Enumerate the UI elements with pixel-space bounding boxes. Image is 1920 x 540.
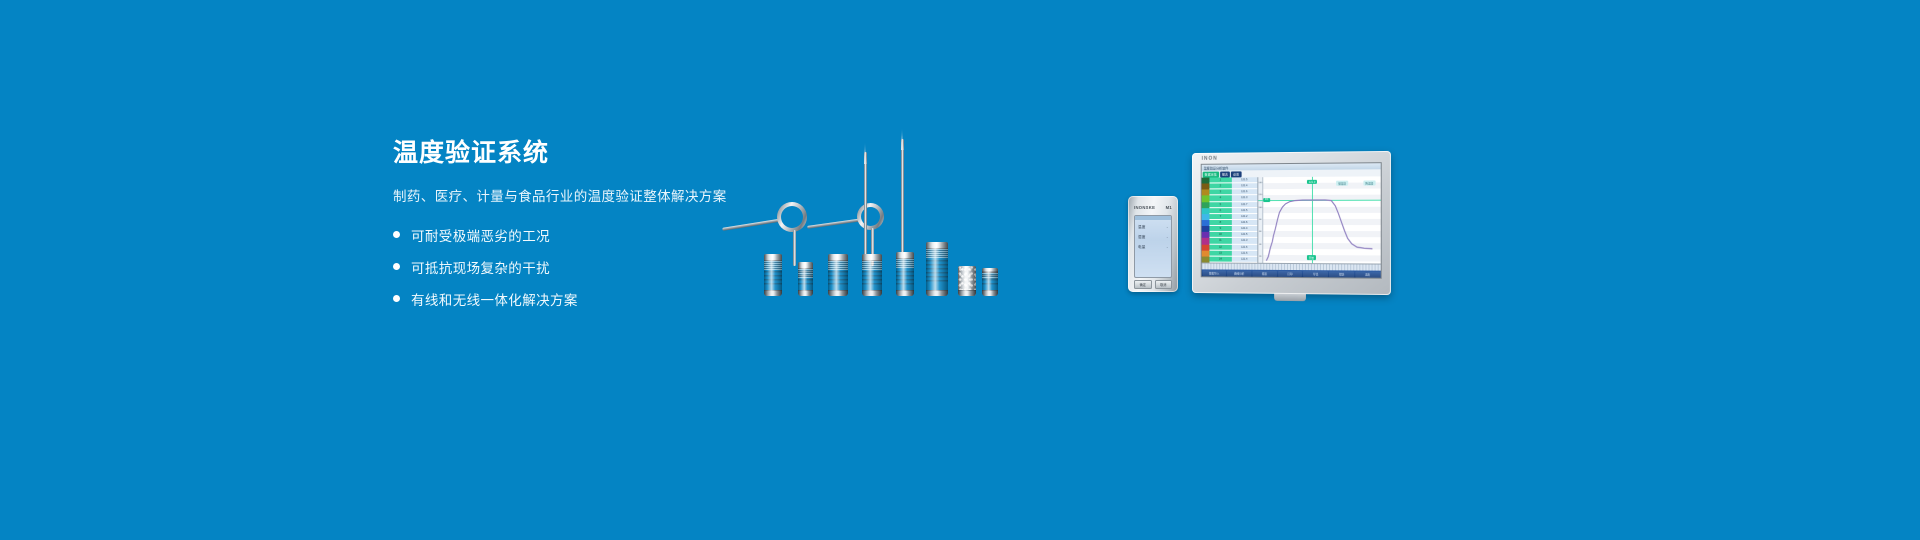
row-value: 121.6 [1231, 220, 1257, 225]
row-channel: 4 [1209, 196, 1231, 201]
logger-ribs [828, 261, 848, 270]
data-logger-mesh [958, 266, 976, 296]
handheld-row-label: 温度 [1138, 225, 1146, 230]
handheld-brand-row: INONSKE M1 [1128, 203, 1178, 211]
logger-ribs [862, 261, 882, 270]
needle-probe-taller [899, 128, 905, 254]
logger-base [764, 290, 782, 296]
needle-shaft [901, 139, 904, 254]
row-value: 121.5 [1231, 177, 1257, 182]
data-logger-3 [828, 254, 848, 296]
handheld-reader[interactable]: INONSKE M1 温度 - 湿度 - 电量 - 确定 取消 [1128, 196, 1178, 292]
bullet-dot-icon [393, 231, 400, 238]
channel-color-swatches [1202, 178, 1210, 263]
row-channel: 14 [1209, 256, 1231, 261]
logger-label [896, 271, 914, 287]
handheld-key-confirm[interactable]: 确定 [1134, 280, 1152, 289]
handheld-row-label: 电量 [1138, 245, 1146, 250]
logger-base [828, 290, 848, 296]
logger-label [926, 260, 948, 284]
handheld-row: 电量 - [1135, 245, 1171, 250]
monitor-display: INON 温度验证分析软件 数据采集 报表 设置 [1192, 151, 1391, 295]
logger-label [828, 271, 848, 287]
monitor-stand [1274, 294, 1306, 301]
monitor-brand: INON [1202, 156, 1218, 162]
logger-base [896, 290, 914, 296]
logger-ribs [896, 259, 914, 268]
logger-cap [926, 242, 948, 249]
row-value: 121.5 [1231, 208, 1257, 213]
handheld-model: M1 [1166, 205, 1172, 210]
footer-button-import[interactable]: 数据导入 [1202, 270, 1226, 276]
row-channel: 9 [1209, 226, 1231, 231]
logger-cap [764, 254, 782, 261]
chart-annotation-cool: 降温段 [1363, 181, 1375, 186]
row-value: 121.7 [1231, 202, 1257, 207]
handheld-screen: 温度 - 湿度 - 电量 - [1134, 215, 1172, 278]
temperature-curve [1266, 200, 1372, 261]
logger-ribs [926, 249, 948, 258]
row-value: 121.4 [1231, 183, 1257, 188]
row-channel: 13 [1209, 250, 1231, 255]
logger-base [926, 290, 948, 296]
data-logger-7 [982, 268, 998, 296]
footer-button-help[interactable]: 帮助 [1329, 271, 1354, 277]
footer-button-exit[interactable]: 退出 [1355, 271, 1380, 277]
handheld-key-cancel[interactable]: 取消 [1155, 280, 1173, 289]
logger-cap [798, 262, 813, 269]
handheld-row-value: - [1167, 225, 1168, 230]
app-body: 1121.5 2121.4 3121.6 4121.3 5121.7 6121.… [1202, 176, 1381, 263]
monitor-screen: 温度验证分析软件 数据采集 报表 设置 [1201, 162, 1382, 279]
logger-base [862, 290, 882, 296]
handheld-keypad[interactable]: 确定 取消 [1134, 280, 1172, 289]
probe-coil-ring [777, 202, 807, 232]
logger-cap [862, 254, 882, 261]
handheld-row-label: 湿度 [1138, 235, 1146, 240]
probe-lead [793, 230, 796, 266]
app-footer-toolbar[interactable]: 数据导入 曲线分析 报表 打印 导出 帮助 退出 [1202, 269, 1381, 277]
logger-ribs [764, 261, 782, 270]
feature-label: 可耐受极端恶劣的工况 [411, 225, 550, 245]
probe-stem [722, 218, 784, 230]
row-value: 121.5 [1231, 232, 1257, 237]
ribbon-tab-settings[interactable]: 设置 [1231, 171, 1241, 177]
row-channel: 2 [1209, 183, 1231, 188]
temperature-chart[interactable]: 140 120 100 80 60 40 20 121.0 F0 [1258, 176, 1380, 263]
logger-label [862, 271, 882, 287]
handheld-row-value: - [1167, 245, 1168, 250]
hero-banner: 温度验证系统 制药、医疗、计量与食品行业的温度验证整体解决方案 可耐受极端恶劣的… [0, 0, 1920, 540]
chart-marker-top: 121.0 [1307, 180, 1318, 184]
row-channel: 11 [1209, 238, 1231, 243]
row-channel: 6 [1209, 208, 1231, 213]
row-value: 121.6 [1231, 244, 1257, 249]
footer-button-print[interactable]: 打印 [1278, 270, 1303, 276]
handheld-row: 湿度 - [1135, 235, 1171, 240]
data-logger-4 [862, 254, 882, 296]
data-logger-1 [764, 254, 782, 296]
row-channel: 10 [1209, 232, 1231, 237]
data-logger-2 [798, 262, 813, 296]
chart-annotation-hold: 保温段 [1336, 181, 1348, 186]
row-channel: 5 [1209, 202, 1231, 207]
logger-base [982, 290, 998, 296]
ribbon-tab-report[interactable]: 报表 [1220, 171, 1230, 177]
needle-probe-tall [862, 142, 868, 254]
bullet-dot-icon [393, 263, 400, 270]
logger-base [798, 290, 813, 296]
logger-label [982, 271, 998, 287]
row-channel: 8 [1209, 220, 1231, 225]
row-value: 121.4 [1231, 257, 1257, 262]
row-value: 121.2 [1231, 214, 1257, 219]
feature-label: 可抵抗现场复杂的干扰 [411, 257, 550, 277]
handheld-brand: INONSKE [1134, 205, 1155, 210]
ribbon-tab-acquisition[interactable]: 数据采集 [1203, 171, 1219, 177]
handheld-row: 温度 - [1135, 225, 1171, 230]
chart-curve-svg [1258, 176, 1380, 263]
logger-cap [828, 254, 848, 261]
row-value: 121.6 [1231, 189, 1257, 194]
channel-rows[interactable]: 1121.5 2121.4 3121.6 4121.3 5121.7 6121.… [1209, 177, 1257, 263]
footer-button-export[interactable]: 导出 [1303, 271, 1328, 277]
row-value: 121.3 [1231, 238, 1257, 243]
logger-label [764, 271, 782, 287]
feature-label: 有线和无线一体化解决方案 [411, 289, 578, 309]
chart-marker-bottom: 开始 [1307, 256, 1316, 261]
chart-marker-left: F0 [1263, 198, 1270, 202]
row-channel: 12 [1209, 244, 1231, 249]
row-channel: 7 [1209, 214, 1231, 219]
row-channel: 1 [1209, 177, 1231, 182]
row-value: 121.4 [1231, 226, 1257, 231]
logger-label [798, 271, 813, 287]
probe-stem [807, 218, 863, 228]
footer-button-report[interactable]: 报表 [1252, 270, 1276, 276]
data-logger-6 [926, 242, 948, 296]
bullet-dot-icon [393, 295, 400, 302]
footer-button-analysis[interactable]: 曲线分析 [1227, 270, 1251, 276]
row-channel: 3 [1209, 190, 1231, 195]
logger-cap [896, 252, 914, 259]
handheld-row-value: - [1167, 235, 1168, 240]
data-logger-5 [896, 252, 914, 296]
row-value: 121.3 [1231, 196, 1257, 201]
handheld-screen-header [1135, 216, 1171, 220]
row-value: 121.5 [1231, 250, 1257, 255]
logger-base [958, 290, 976, 296]
channel-table[interactable]: 1121.5 2121.4 3121.6 4121.3 5121.7 6121.… [1202, 177, 1259, 263]
needle-shaft [864, 152, 867, 254]
